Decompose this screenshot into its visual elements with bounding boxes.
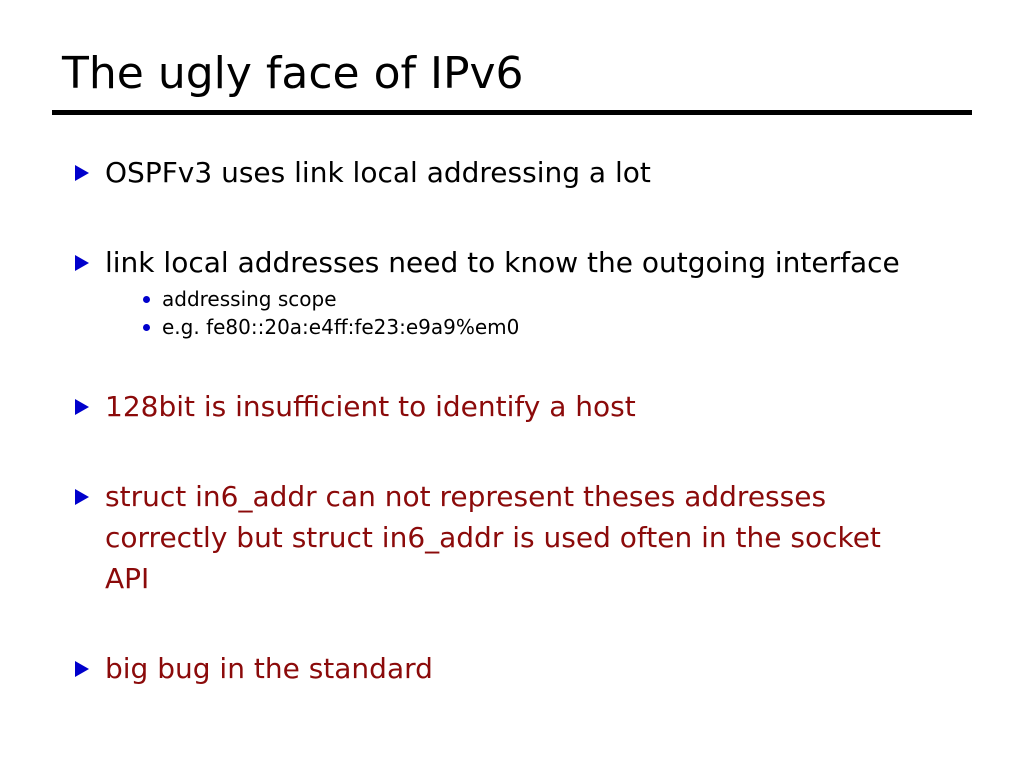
spacer	[74, 341, 954, 386]
triangle-right-icon	[75, 255, 89, 271]
title-divider	[52, 110, 972, 115]
sub-bullet-item: e.g. fe80::20a:e4ff:fe23:e9a9%em0	[141, 313, 910, 341]
triangle-right-icon	[75, 661, 89, 677]
spacer	[74, 193, 954, 242]
bullet-item: OSPFv3 uses link local addressing a lot	[74, 152, 910, 193]
dot-icon	[143, 296, 150, 303]
spacer	[74, 427, 954, 476]
bullet-label: struct in6_addr can not represent theses…	[105, 476, 910, 599]
page-title: The ugly face of IPv6	[52, 48, 972, 100]
sub-bullet-label: addressing scope	[162, 285, 910, 313]
sub-bullet-list: addressing scope e.g. fe80::20a:e4ff:fe2…	[105, 285, 910, 341]
triangle-right-icon	[75, 165, 89, 181]
bullet-label: link local addresses need to know the ou…	[105, 242, 910, 283]
bullet-item: link local addresses need to know the ou…	[74, 242, 910, 341]
bullet-label: 128bit is insufficient to identify a hos…	[105, 386, 910, 427]
slide-body: OSPFv3 uses link local addressing a lot …	[74, 152, 954, 689]
bullet-item: 128bit is insufficient to identify a hos…	[74, 386, 910, 427]
triangle-right-icon	[75, 399, 89, 415]
bullet-item: struct in6_addr can not represent theses…	[74, 476, 910, 599]
triangle-right-icon	[75, 489, 89, 505]
bullet-label: big bug in the standard	[105, 648, 910, 689]
sub-bullet-label: e.g. fe80::20a:e4ff:fe23:e9a9%em0	[162, 313, 910, 341]
dot-icon	[143, 324, 150, 331]
bullet-item: big bug in the standard	[74, 648, 910, 689]
bullet-label: OSPFv3 uses link local addressing a lot	[105, 152, 910, 193]
sub-bullet-item: addressing scope	[141, 285, 910, 313]
spacer	[74, 599, 954, 648]
slide-title-block: The ugly face of IPv6	[52, 48, 972, 100]
slide: The ugly face of IPv6 OSPFv3 uses link l…	[0, 0, 1024, 768]
